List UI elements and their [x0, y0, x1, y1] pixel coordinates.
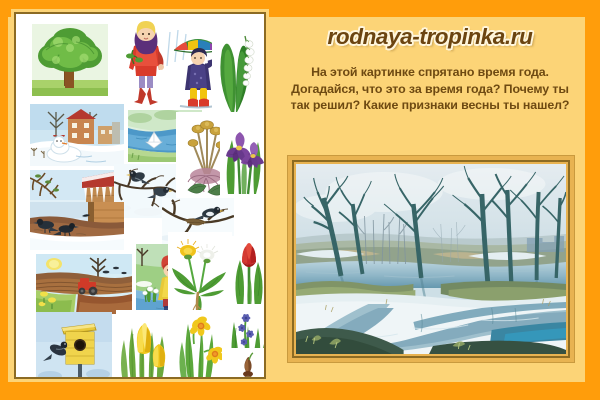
collage-item-green-tree-illustration: [32, 24, 108, 96]
collage-item-lily-of-the-valley-illustration: [212, 28, 262, 116]
collage-item-snowman-melting-illustration: [30, 104, 124, 166]
collage-item-plowed-field-illustration: [36, 254, 132, 314]
site-title: rodnaya-tropinka.ru: [282, 24, 578, 50]
collage-sheet: [16, 14, 264, 377]
collage-frame: [14, 12, 266, 379]
painting-frame-inner: [292, 160, 570, 358]
right-column: rodnaya-tropinka.ru На этой картинке спр…: [282, 12, 578, 379]
collage-item-flower-bulb-illustration: [230, 348, 266, 379]
collage-item-yellow-crocus-illustration: [116, 310, 178, 379]
poster-canvas: rodnaya-tropinka.ru На этой картинке спр…: [0, 0, 600, 400]
collage-item-iris-flowers-illustration: [220, 118, 266, 196]
collage-item-rooks-on-field-illustration: [30, 202, 124, 250]
collage-item-birdhouse-starling-illustration: [36, 312, 112, 379]
spring-flood-landscape-painting: [296, 164, 566, 354]
prompt-text: На этой картинке спрятано время года. До…: [288, 64, 572, 114]
painting-frame: [287, 155, 575, 363]
